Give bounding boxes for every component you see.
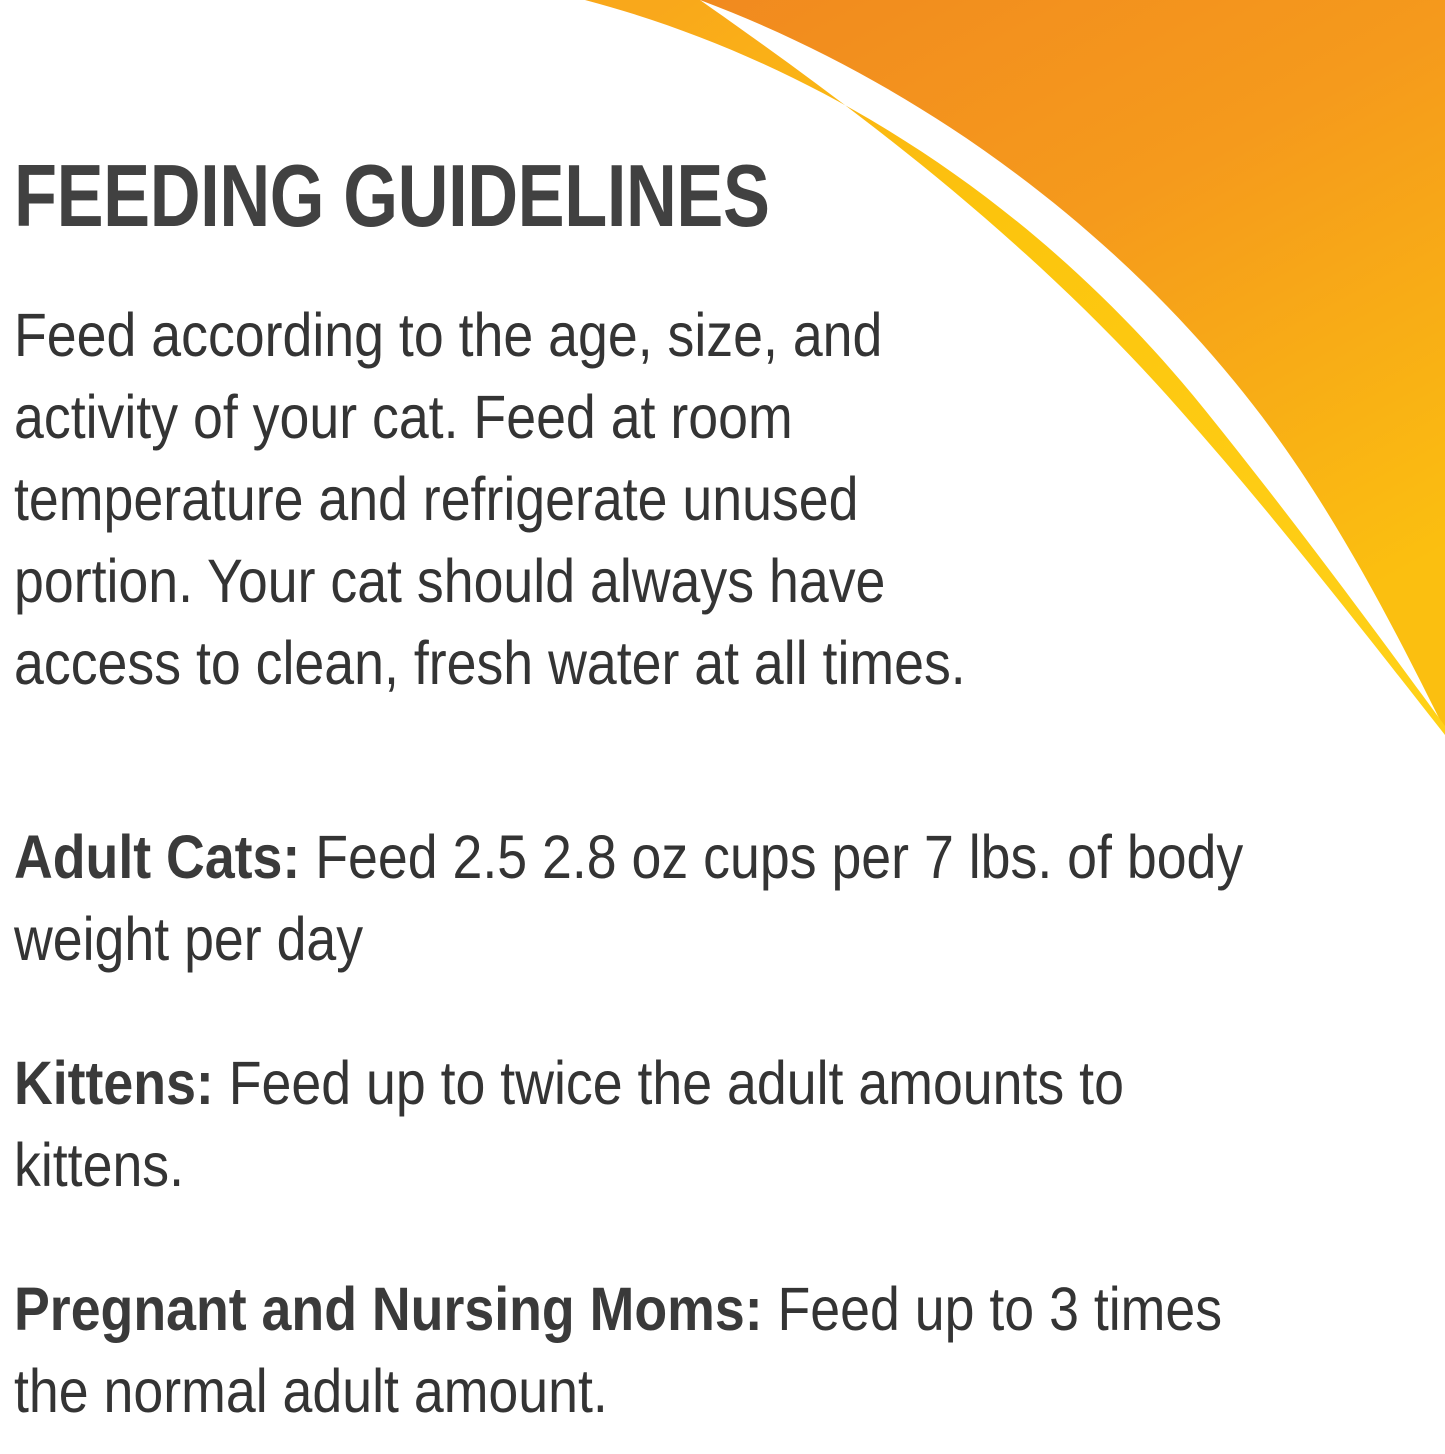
guideline-pregnant-nursing-moms: Pregnant and Nursing Moms: Feed up to 3 … [14,1206,1246,1432]
guideline-label-adult-cats: Adult Cats: [14,823,300,891]
guideline-label-kittens: Kittens: [14,1049,214,1117]
content-column: FEEDING GUIDELINES Feed according to the… [14,0,1394,1432]
product-label-panel: FEEDING GUIDELINES Feed according to the… [0,0,1445,1454]
guideline-adult-cats: Adult Cats: Feed 2.5 2.8 oz cups per 7 l… [14,704,1246,980]
intro-paragraph: Feed according to the age, size, and act… [14,240,1052,704]
page-title: FEEDING GUIDELINES [14,0,1118,240]
guideline-label-pregnant-nursing-moms: Pregnant and Nursing Moms: [14,1275,763,1343]
guideline-kittens: Kittens: Feed up to twice the adult amou… [14,980,1246,1206]
